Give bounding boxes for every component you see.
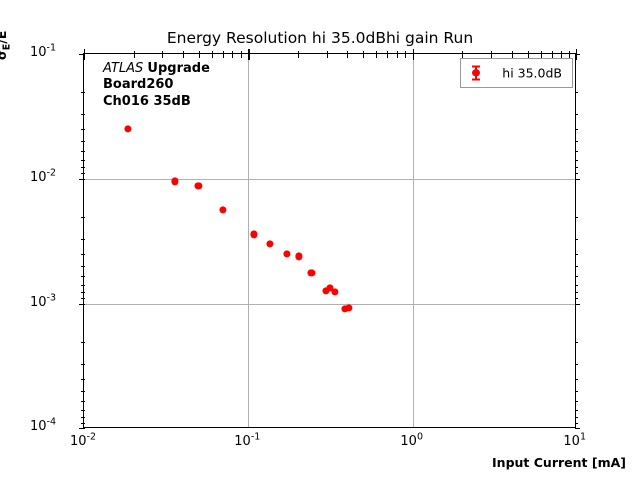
x-tick-minor-top — [541, 54, 542, 58]
y-tick-minor — [81, 114, 85, 115]
board-label: Board260 — [103, 77, 210, 93]
data-point — [332, 288, 339, 295]
x-axis-title: Input Current [mA] — [0, 455, 626, 470]
y-tick-minor — [81, 254, 85, 255]
y-tick-minor-right — [575, 254, 579, 255]
y-tick-label: 10-1 — [30, 45, 56, 60]
y-tick-minor — [81, 266, 85, 267]
y-tick-minor — [81, 285, 85, 286]
y-tick-minor — [81, 342, 85, 343]
y-tick-minor-right — [575, 401, 579, 402]
y-tick-major — [79, 428, 85, 429]
data-point — [171, 178, 178, 185]
y-tick-minor — [81, 217, 85, 218]
y-tick-minor-right — [575, 114, 579, 115]
y-tick-minor — [81, 292, 85, 293]
x-tick-major-top — [576, 54, 577, 60]
y-tick-minor-right — [575, 379, 579, 380]
atlas-annotation: ATLAS Upgrade Board260 Ch016 35dB — [103, 61, 210, 110]
y-tick-minor-right — [575, 342, 579, 343]
y-tick-minor-right — [575, 423, 579, 424]
y-tick-minor — [81, 417, 85, 418]
x-tick-minor-top — [298, 54, 299, 58]
y-tick-minor — [81, 423, 85, 424]
x-tick-minor-top — [199, 54, 200, 58]
y-tick-minor-right — [575, 417, 579, 418]
x-tick-minor-top — [241, 54, 242, 58]
y-tick-label: 10-3 — [30, 295, 56, 310]
x-tick-minor-top — [491, 54, 492, 58]
y-tick-minor-right — [575, 151, 579, 152]
data-point — [125, 126, 132, 133]
x-tick-minor-top — [232, 54, 233, 58]
y-tick-minor — [81, 167, 85, 168]
x-tick-minor-top — [212, 54, 213, 58]
atlas-label: ATLAS — [103, 61, 143, 76]
y-tick-minor — [81, 239, 85, 240]
y-tick-minor-right — [575, 173, 579, 174]
y-tick-minor-right — [575, 410, 579, 411]
y-axis-title: σE/E — [0, 31, 9, 60]
x-tick-major-top — [248, 54, 249, 60]
x-tick-minor-top — [376, 54, 377, 58]
channel-label: Ch016 35dB — [103, 94, 210, 110]
y-tick-minor — [81, 129, 85, 130]
y-tick-label: 10-4 — [30, 419, 56, 434]
y-tick-minor-right — [575, 292, 579, 293]
legend-marker-icon — [472, 69, 479, 76]
y-tick-minor — [81, 276, 85, 277]
y-tick-minor-right — [575, 217, 579, 218]
y-tick-minor-right — [575, 285, 579, 286]
data-point — [266, 240, 273, 247]
gridline-y-1e-3 — [84, 304, 575, 305]
x-tick-minor-top — [363, 54, 364, 58]
y-tick-minor — [81, 391, 85, 392]
x-tick-minor-top — [327, 54, 328, 58]
x-tick-label: 101 — [563, 434, 586, 449]
x-tick-minor-top — [462, 54, 463, 58]
x-tick-minor-top — [223, 54, 224, 58]
y-tick-minor-right — [575, 160, 579, 161]
y-tick-minor — [81, 173, 85, 174]
x-tick-label: 10-1 — [234, 434, 260, 449]
x-tick-minor-top — [162, 54, 163, 58]
x-tick-minor-top — [397, 54, 398, 58]
y-tick-major-right — [575, 428, 581, 429]
y-tick-minor — [81, 401, 85, 402]
y-tick-minor-right — [575, 239, 579, 240]
y-tick-minor-right — [575, 129, 579, 130]
legend[interactable]: hi 35.0dB — [460, 58, 573, 88]
y-tick-minor — [81, 151, 85, 152]
x-tick-label: 100 — [400, 434, 423, 449]
y-tick-minor-right — [575, 266, 579, 267]
x-tick-minor-top — [528, 54, 529, 58]
x-tick-minor-top — [347, 54, 348, 58]
y-tick-major-right — [575, 179, 581, 180]
y-tick-minor-right — [575, 167, 579, 168]
x-tick-minor-top — [512, 54, 513, 58]
gridline-y-1e-2 — [84, 179, 575, 180]
y-tick-minor — [81, 379, 85, 380]
x-tick-label: 10-2 — [70, 434, 96, 449]
y-axis-subscript: E — [2, 44, 13, 51]
gridline-x-1e0 — [413, 54, 414, 427]
y-tick-minor-right — [575, 298, 579, 299]
x-tick-major-top — [84, 54, 85, 60]
data-point — [345, 304, 352, 311]
data-point — [219, 206, 226, 213]
x-tick-minor-top — [561, 54, 562, 58]
page-title: Energy Resolution hi 35.0dBhi gain Run — [0, 29, 640, 47]
x-tick-major-top — [413, 54, 414, 60]
y-tick-minor-right — [575, 391, 579, 392]
y-tick-major-right — [575, 304, 581, 305]
data-point — [308, 269, 315, 276]
y-tick-minor-right — [575, 276, 579, 277]
x-tick-minor-top — [183, 54, 184, 58]
x-tick-minor-top — [552, 54, 553, 58]
y-tick-minor — [81, 141, 85, 142]
data-point — [283, 250, 290, 257]
x-tick-minor-top — [134, 54, 135, 58]
y-tick-minor-right — [575, 92, 579, 93]
data-point — [295, 253, 302, 260]
data-point — [250, 231, 257, 238]
y-tick-major — [79, 304, 85, 305]
y-tick-minor — [81, 364, 85, 365]
x-tick-minor-top — [387, 54, 388, 58]
y-axis-sigma: σ — [0, 50, 9, 60]
y-tick-minor — [81, 410, 85, 411]
y-tick-label: 10-2 — [30, 170, 56, 185]
y-tick-minor — [81, 298, 85, 299]
y-axis-rest: /E — [0, 31, 9, 44]
y-tick-minor — [81, 160, 85, 161]
gridline-x-1e-1 — [248, 54, 249, 427]
figure-canvas: Energy Resolution hi 35.0dBhi gain Run σ… — [0, 0, 640, 480]
x-tick-minor-top — [569, 54, 570, 58]
atlas-line-1: ATLAS Upgrade — [103, 61, 210, 77]
data-point — [195, 183, 202, 190]
y-tick-major — [79, 179, 85, 180]
x-tick-minor-top — [405, 54, 406, 58]
legend-entry-label: hi 35.0dB — [502, 66, 562, 81]
upgrade-label: Upgrade — [147, 61, 209, 76]
y-tick-minor — [81, 92, 85, 93]
y-tick-minor-right — [575, 364, 579, 365]
y-tick-minor-right — [575, 141, 579, 142]
